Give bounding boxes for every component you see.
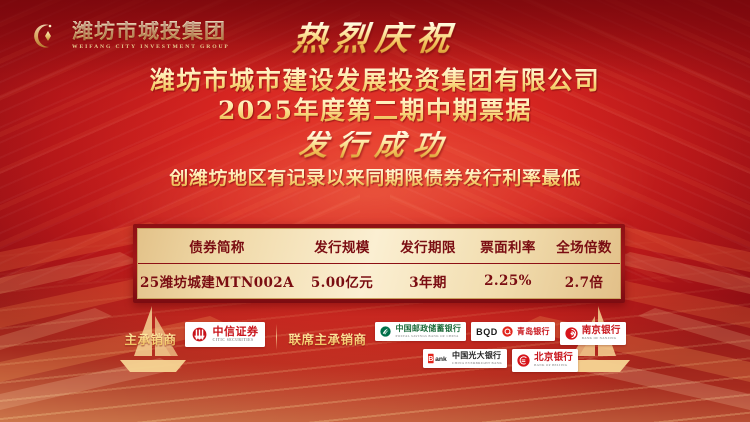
headline-company-name: 潍坊市城市建设发展投资集团有限公司 (0, 66, 750, 96)
bank-name-en-postal-savings: POSTAL SAVINGS BANK OF CHINA (395, 335, 461, 338)
bank-name-cn-nanjing: 南京银行 (582, 326, 621, 336)
headline-success: 发行成功 (297, 131, 453, 160)
table-header-bond-name: 债券简称 (138, 236, 296, 256)
citic-securities-logo-icon (192, 327, 207, 342)
bank-logo-postal-savings: 中国邮政储蓄银行 POSTAL SAVINGS BANK OF CHINA (375, 322, 466, 341)
table-header-issue-term: 发行期限 (388, 236, 468, 256)
celebration-banner: 潍坊市城投集团 WEIFANG CITY INVESTMENT GROUP 热烈… (0, 0, 750, 422)
bank-of-qingdao-logo-icon (502, 326, 513, 337)
table-header-coupon-rate: 票面利率 (468, 236, 548, 256)
headline-celebrate: 热烈庆祝 (291, 22, 459, 56)
underwriter-divider (276, 324, 277, 350)
bank-logo-qingdao: BQD 青岛银行 (471, 322, 555, 341)
bank-abbr-qingdao: BQD (476, 327, 498, 337)
joint-underwriter-row-2: B ank 中国光大银行 CHINA EVERBRIGHT BANK (375, 349, 625, 372)
bank-name-en-nanjing: BANK OF NANJING (582, 337, 621, 340)
table-row: 25潍坊城建MTN002A 5.00亿元 3年期 2.25% 2.7倍 (138, 264, 620, 298)
joint-underwriter-logos: 中国邮政储蓄银行 POSTAL SAVINGS BANK OF CHINA BQ… (375, 322, 625, 372)
lead-underwriter-logo: 中信证券 CITIC SECURITIES (185, 322, 265, 347)
table-cell-issue-term: 3年期 (388, 271, 468, 291)
bond-details-table: 债券简称 发行规模 发行期限 票面利率 全场倍数 25潍坊城建MTN002A 5… (133, 224, 625, 303)
table-cell-subscription-multiple: 2.7倍 (548, 271, 620, 291)
underwriters-section: 主承销商 中信证券 CITIC SECURITIES 联席主承销商 (0, 322, 750, 372)
postal-savings-bank-logo-icon (380, 326, 391, 337)
table-cell-coupon-rate: 2.25% (468, 273, 548, 289)
bank-name-cn-qingdao: 青岛银行 (517, 328, 550, 336)
bank-name-cn-beijing: 北京银行 (534, 353, 573, 363)
table-header-subscription-multiple: 全场倍数 (548, 236, 620, 256)
china-everbright-bank-logo-icon: B ank (428, 353, 448, 364)
joint-underwriter-row-1: 中国邮政储蓄银行 POSTAL SAVINGS BANK OF CHINA BQ… (375, 322, 625, 345)
headline-subtitle: 创潍坊地区有记录以来同期限债券发行利率最低 (0, 169, 750, 188)
bank-name-en-everbright: CHINA EVERBRIGHT BANK (452, 362, 502, 365)
table-cell-issue-size: 5.00亿元 (296, 271, 388, 291)
table-header-issue-size: 发行规模 (296, 236, 388, 256)
headline-issue-name: 2025年度第二期中期票据 (0, 96, 750, 126)
svg-text:B: B (428, 356, 433, 363)
bank-name-cn-postal-savings: 中国邮政储蓄银行 (395, 325, 461, 333)
bank-of-nanjing-logo-icon (565, 327, 578, 340)
table-cell-bond-name: 25潍坊城建MTN002A (138, 271, 296, 291)
bank-name-en-beijing: BANK OF BEIJING (534, 364, 573, 367)
crescent-logo-icon (24, 16, 64, 56)
company-logo: 潍坊市城投集团 WEIFANG CITY INVESTMENT GROUP (24, 16, 230, 56)
joint-underwriter-label: 联席主承销商 (288, 322, 366, 348)
bank-logo-nanjing: 南京银行 BANK OF NANJING (560, 322, 626, 345)
bank-of-beijing-logo-icon (517, 354, 530, 367)
citic-name-en: CITIC SECURITIES (212, 339, 258, 343)
logo-text-en: WEIFANG CITY INVESTMENT GROUP (72, 45, 230, 51)
svg-text:ank: ank (435, 356, 447, 363)
table-header-row: 债券简称 发行规模 发行期限 票面利率 全场倍数 (138, 229, 620, 264)
logo-text-cn: 潍坊市城投集团 (72, 21, 230, 42)
citic-name-cn: 中信证券 (212, 326, 258, 337)
bank-name-cn-everbright: 中国光大银行 (452, 352, 502, 360)
table-inner-panel: 债券简称 发行规模 发行期限 票面利率 全场倍数 25潍坊城建MTN002A 5… (137, 228, 621, 299)
bank-logo-everbright: B ank 中国光大银行 CHINA EVERBRIGHT BANK (423, 349, 507, 368)
bank-logo-beijing: 北京银行 BANK OF BEIJING (512, 349, 578, 372)
lead-underwriter-label: 主承销商 (124, 322, 176, 348)
